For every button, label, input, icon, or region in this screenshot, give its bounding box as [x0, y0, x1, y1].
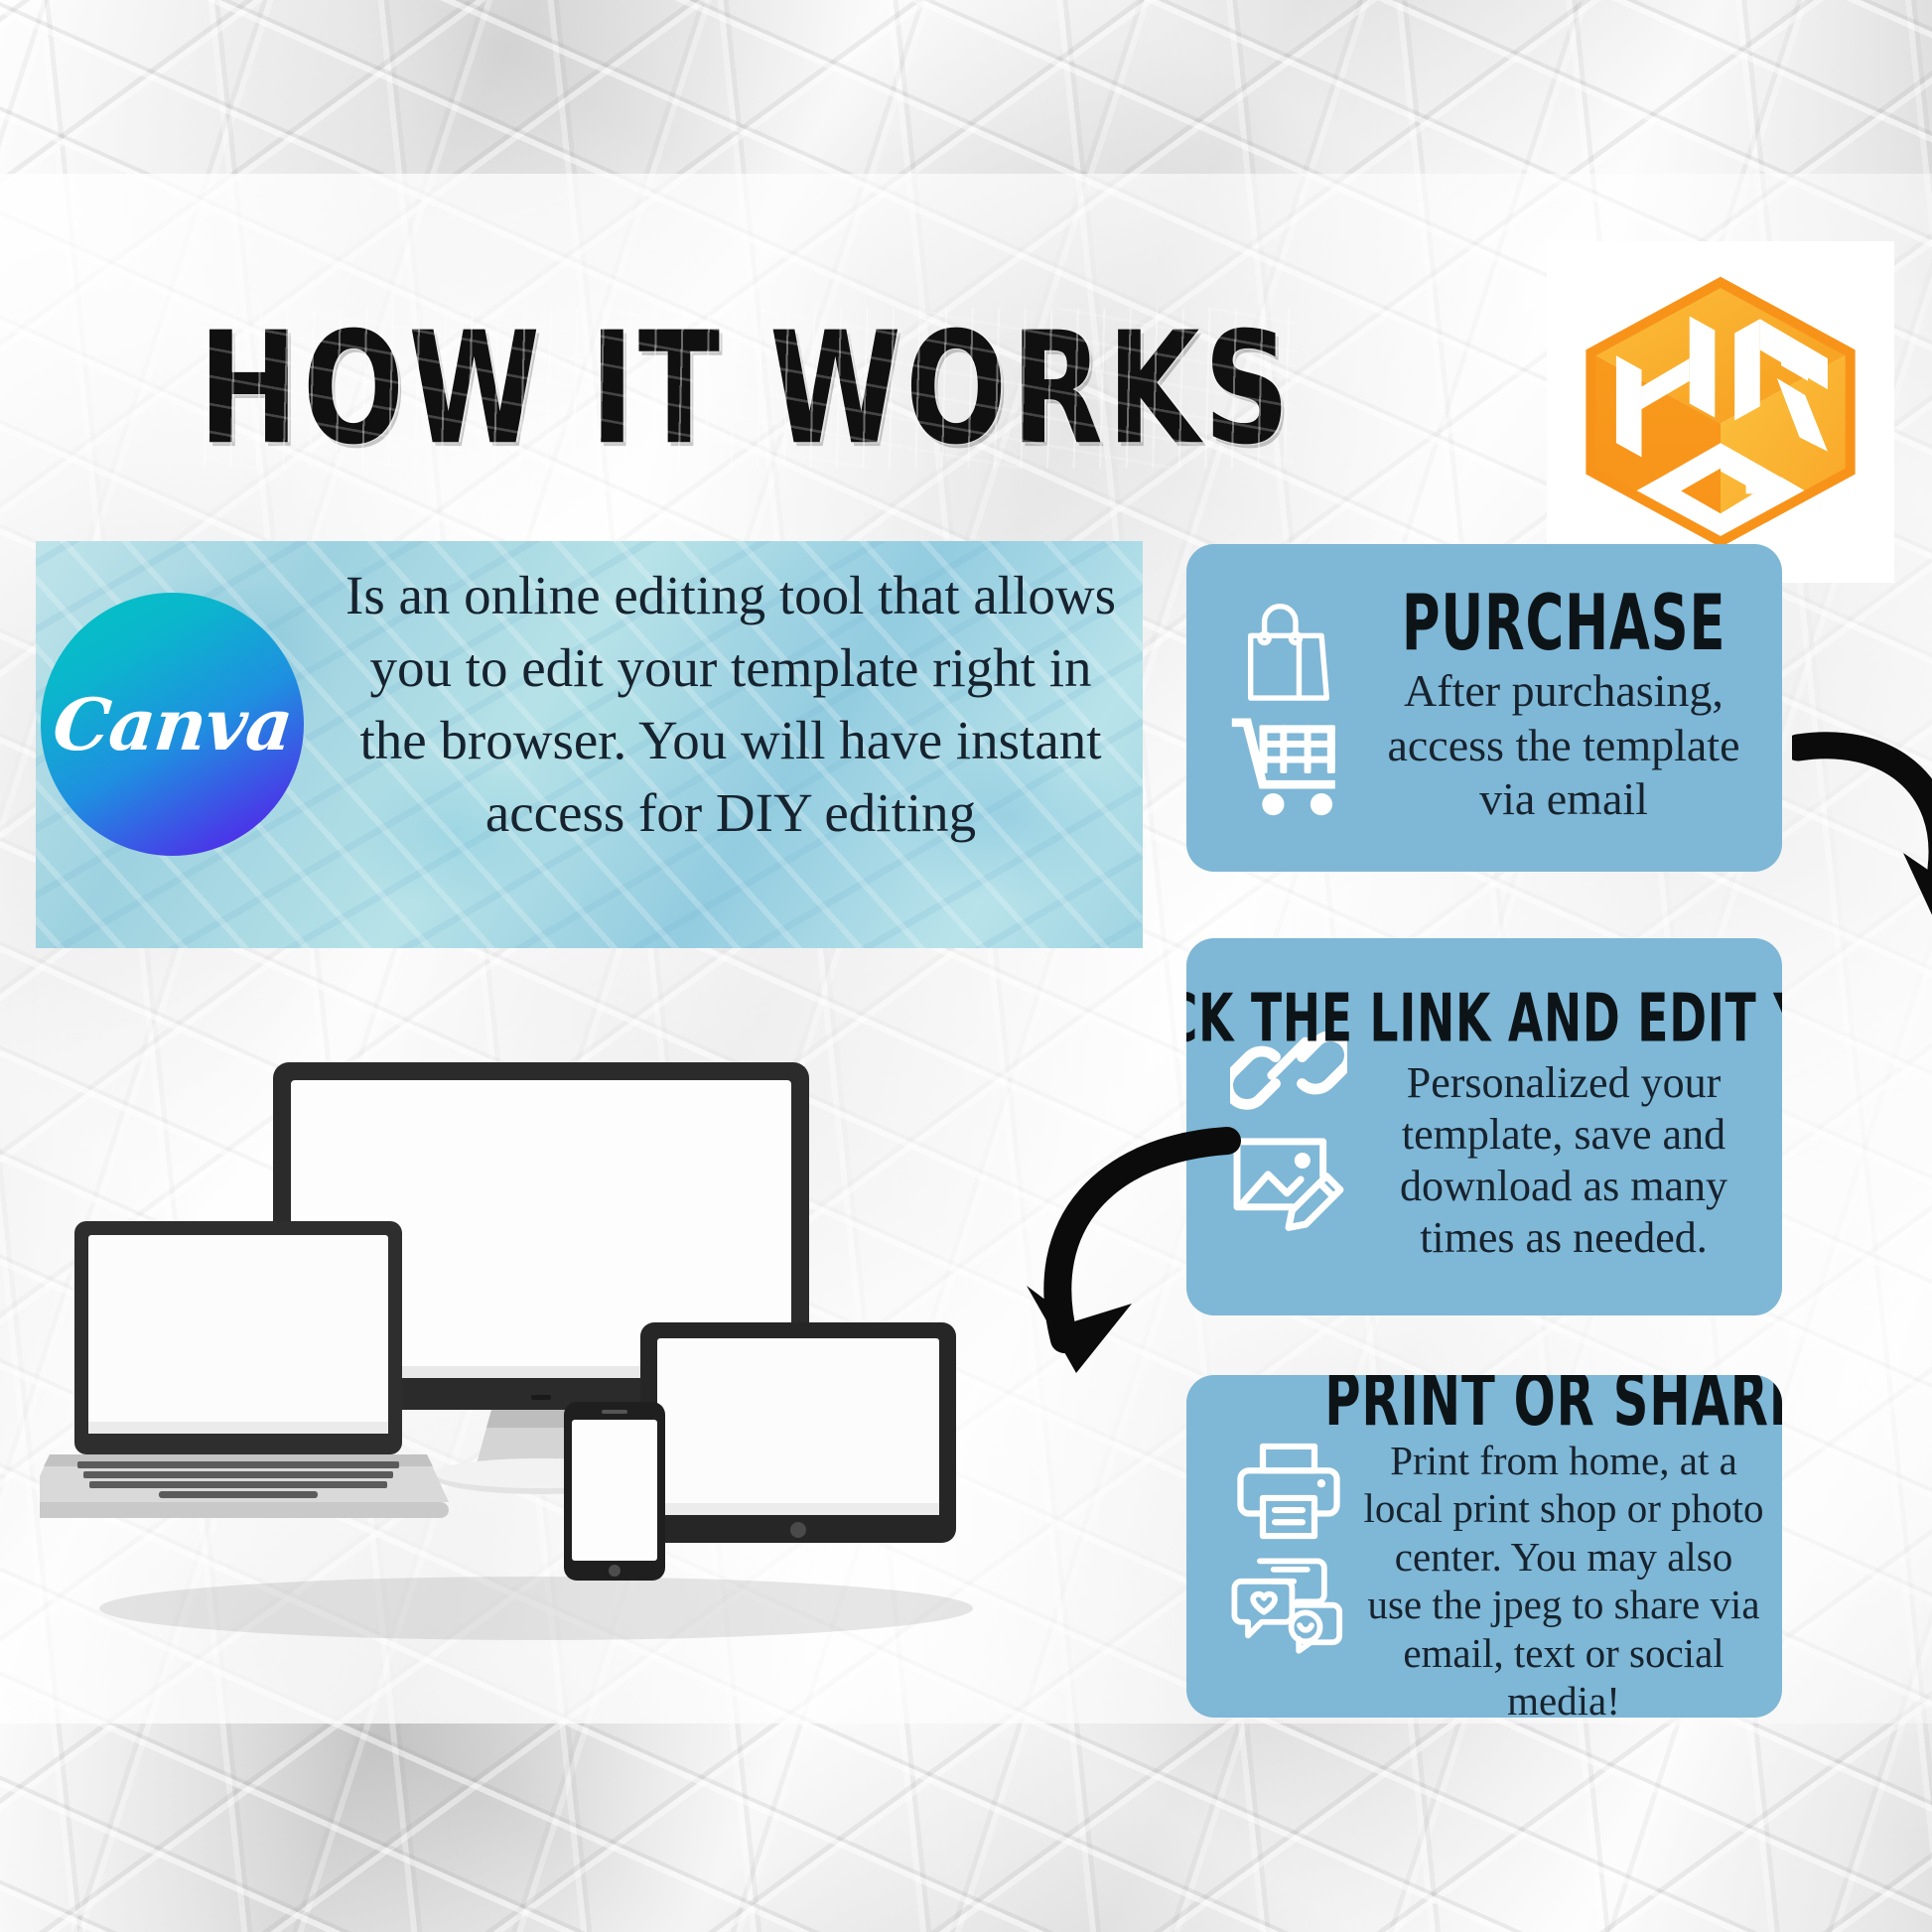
step-panel-click-edit[interactable]: CLICK THE LINK AND EDIT YOURSELF Persona… — [1186, 938, 1782, 1315]
arrow-purchase-to-click — [1792, 730, 1932, 968]
brand-logo — [1547, 241, 1894, 583]
click-edit-body: Personalized your template, save and dow… — [1363, 1057, 1764, 1264]
phone-mockup — [564, 1402, 665, 1581]
arrow-click-to-print — [1013, 1127, 1241, 1415]
printer-icon — [1235, 1440, 1342, 1543]
purchase-body: After purchasing, access the template vi… — [1363, 664, 1764, 826]
print-share-body: Print from home, at a local print shop o… — [1363, 1437, 1764, 1718]
step-panel-purchase[interactable]: PURCHASE After purchasing, access the te… — [1186, 544, 1782, 872]
canva-info-card: Canva Is an online editing tool that all… — [36, 541, 1143, 948]
step-panel-print-share[interactable]: PRINT OR SHARE Print from home, at a loc… — [1186, 1375, 1782, 1718]
laptop-mockup — [40, 1221, 449, 1518]
click-edit-heading: CLICK THE LINK AND EDIT YOURSELF — [1186, 985, 1782, 1053]
shopping-cart-icon — [1228, 715, 1349, 818]
print-share-heading: PRINT OR SHARE — [1324, 1375, 1782, 1437]
purchase-heading: PURCHASE — [1402, 584, 1726, 662]
device-mockups — [40, 1052, 1052, 1648]
canva-description: Is an online editing tool that allows yo… — [334, 559, 1128, 850]
hrg-cube-icon — [1580, 271, 1862, 553]
canva-wordmark: Canva — [49, 682, 296, 766]
shopping-bag-icon — [1233, 598, 1344, 705]
page-title: HOW IT WORKS — [199, 298, 1294, 479]
tablet-mockup — [640, 1322, 956, 1543]
canva-logo-icon: Canva — [41, 593, 304, 856]
purchase-icons — [1214, 544, 1363, 872]
social-share-icon — [1231, 1553, 1346, 1654]
image-edit-icon — [1230, 1128, 1347, 1231]
